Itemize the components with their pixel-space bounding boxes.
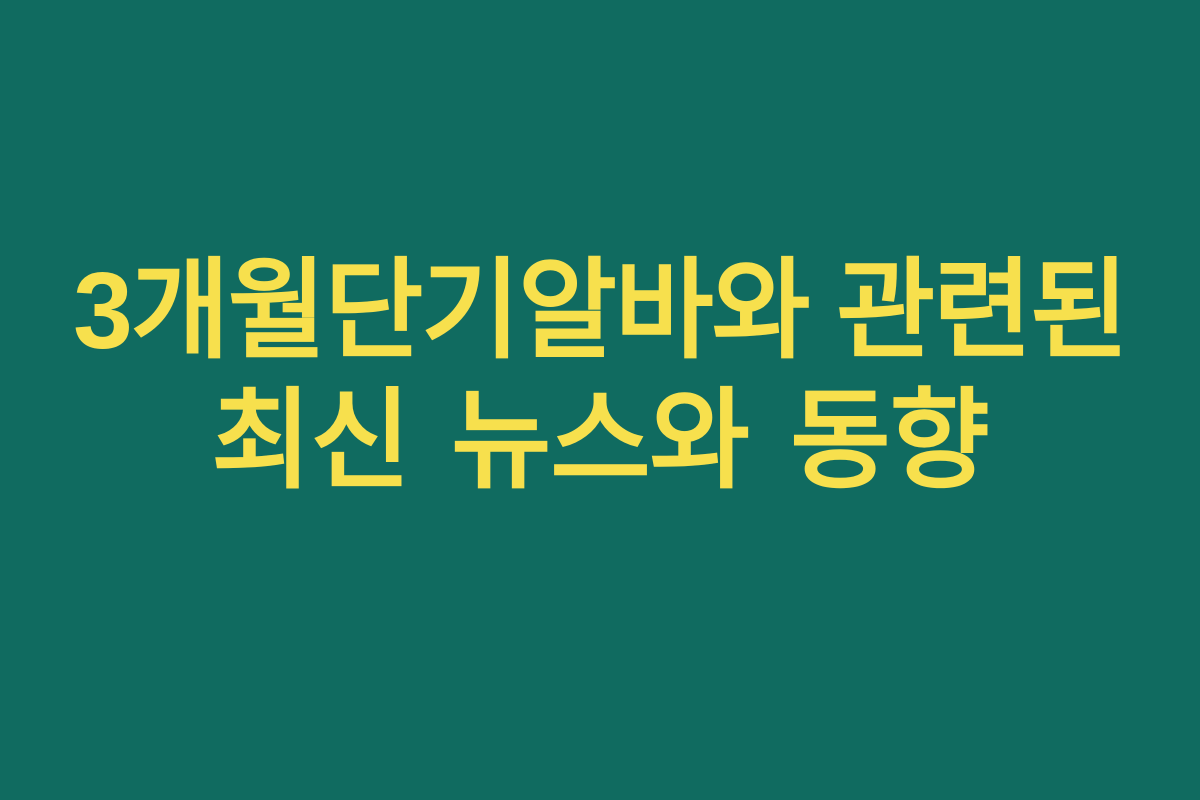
headline-line-2: 최신 뉴스와 동향 [0,377,1200,507]
thumbnail-banner: 3개월단기알바와 관련된 최신 뉴스와 동향 [0,0,1200,800]
headline-block: 3개월단기알바와 관련된 최신 뉴스와 동향 [0,247,1200,506]
headline-line-1: 3개월단기알바와 관련된 [9,247,1191,377]
